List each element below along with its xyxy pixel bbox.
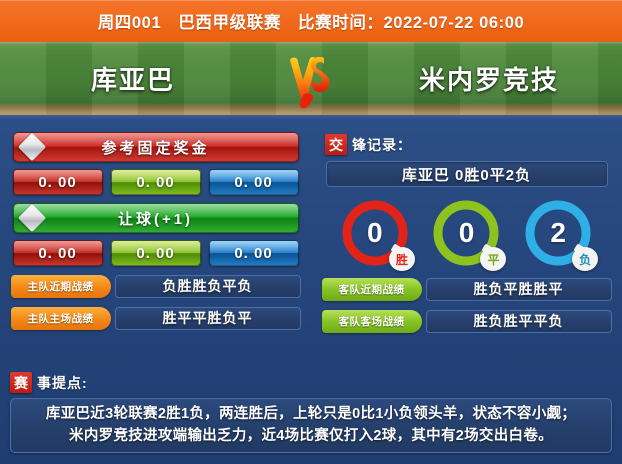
home-home-form-row: 主队主场战绩 胜平平胜负平	[11, 306, 301, 330]
odd-value: 0. 00	[234, 245, 272, 262]
away-recent-form-row: 客队近期战绩 胜负平胜胜平	[322, 277, 612, 301]
h2h-summary-text: 库亚巴 0胜0平2负	[402, 164, 531, 185]
handicap-odd-away-win[interactable]: 0. 00	[209, 240, 299, 266]
handicap-odds-row: 0. 00 0. 00 0. 00	[13, 240, 299, 266]
fixed-odds-title-bar: 参考固定奖金	[13, 132, 299, 162]
handicap-odd-draw[interactable]: 0. 00	[111, 240, 201, 266]
analysis-line-2: 米内罗竞技进攻端输出乏力，近4场比赛仅打入2球，其中有2场交出白卷。	[69, 425, 553, 447]
odd-value: 0. 00	[136, 245, 174, 262]
fixed-odds-title: 参考固定奖金	[101, 137, 209, 158]
away-recent-form-value: 胜负平胜胜平	[474, 279, 564, 299]
pitch-edge	[0, 115, 622, 120]
away-recent-form-value-box: 胜负平胜胜平	[426, 278, 612, 301]
odd-value: 0. 00	[234, 174, 272, 191]
home-recent-form-row: 主队近期战绩 负胜胜负平负	[11, 274, 301, 298]
analysis-text-box: 库亚巴近3轮联赛2胜1负，两连胜后，上轮只是0比1小负领头羊，状态不容小觑； 米…	[10, 398, 612, 453]
analysis-line-1: 库亚巴近3轮联赛2胜1负，两连胜后，上轮只是0比1小负领头羊，状态不容小觑；	[46, 403, 576, 425]
h2h-panel: 交 锋记录： 库亚巴 0胜0平2负 0 胜 0	[311, 124, 622, 364]
fixed-odds-row: 0. 00 0. 00 0. 00	[13, 169, 299, 195]
odd-value: 0. 00	[38, 245, 76, 262]
diamond-icon	[17, 204, 45, 232]
diamond-icon	[17, 133, 45, 161]
analysis-badge-icon: 赛	[10, 372, 32, 393]
handicap-odd-home-win[interactable]: 0. 00	[13, 240, 103, 266]
h2h-draw-tag-text: 平	[487, 251, 499, 268]
away-away-form-value-box: 胜负胜平平负	[426, 310, 612, 333]
odd-value: 0. 00	[38, 174, 76, 191]
odd-value: 0. 00	[136, 174, 174, 191]
h2h-title: 锋记录：	[352, 135, 412, 155]
home-home-form-value: 胜平平胜负平	[163, 308, 253, 328]
fixed-odd-draw[interactable]: 0. 00	[111, 169, 201, 195]
h2h-header: 交 锋记录：	[325, 134, 622, 155]
h2h-badge-icon: 交	[325, 134, 347, 155]
h2h-ring-win: 0 胜	[339, 197, 411, 269]
header-bar: 周四001 巴西甲级联赛 比赛时间：2022-07-22 06:00	[0, 0, 622, 42]
away-away-form-label: 客队客场战绩	[322, 310, 422, 333]
h2h-loss-tag-text: 负	[579, 251, 591, 268]
analysis-header: 赛 事提点:	[10, 372, 622, 393]
h2h-ring-draw: 0 平	[430, 197, 502, 269]
home-recent-form-value: 负胜胜负平负	[163, 276, 253, 296]
h2h-ring-loss: 2 负	[522, 197, 594, 269]
h2h-rings: 0 胜 0 平 2 负	[329, 197, 604, 269]
h2h-draw-tag: 平	[480, 247, 506, 271]
analysis-title: 事提点:	[37, 373, 88, 393]
away-away-form-value: 胜负胜平平负	[474, 311, 564, 331]
match-preview-card: 周四001 巴西甲级联赛 比赛时间：2022-07-22 06:00 库亚巴	[0, 0, 622, 464]
header-title: 周四001 巴西甲级联赛 比赛时间：2022-07-22 06:00	[98, 9, 525, 33]
away-team-name: 米内罗竞技	[374, 60, 604, 97]
h2h-win-tag-text: 胜	[396, 251, 408, 268]
h2h-loss-tag: 负	[572, 247, 598, 271]
home-home-form-value-box: 胜平平胜负平	[115, 307, 301, 330]
teams-banner: 库亚巴 米内罗竞技	[0, 42, 622, 120]
h2h-summary-bar: 库亚巴 0胜0平2负	[326, 161, 608, 187]
fixed-odd-away-win[interactable]: 0. 00	[209, 169, 299, 195]
odds-panel: 参考固定奖金 0. 00 0. 00 0. 00 让球(+1)	[0, 124, 311, 364]
away-away-form-row: 客队客场战绩 胜负胜平平负	[322, 309, 612, 333]
h2h-win-tag: 胜	[389, 247, 415, 271]
home-home-form-label: 主队主场战绩	[11, 307, 111, 330]
handicap-title-bar: 让球(+1)	[13, 203, 299, 233]
away-recent-form-label: 客队近期战绩	[322, 278, 422, 301]
analysis-section: 赛 事提点: 库亚巴近3轮联赛2胜1负，两连胜后，上轮只是0比1小负领头羊，状态…	[0, 366, 622, 464]
home-recent-form-value-box: 负胜胜负平负	[115, 275, 301, 298]
home-recent-form-label: 主队近期战绩	[11, 275, 111, 298]
handicap-title: 让球(+1)	[118, 208, 193, 229]
fixed-odd-home-win[interactable]: 0. 00	[13, 169, 103, 195]
